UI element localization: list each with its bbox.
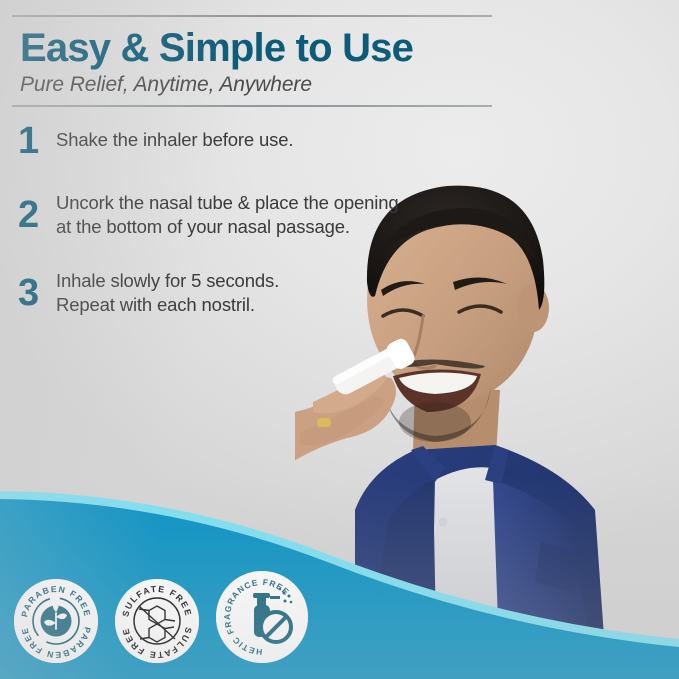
step-text: Uncork the nasal tube & place the openin…: [56, 186, 482, 238]
step-text-line: Inhale slowly for 5 seconds.: [56, 269, 482, 293]
divider-bottom: [12, 105, 492, 107]
steps-list: 1 Shake the inhaler before use. 2 Uncork…: [12, 122, 482, 343]
step-text-line: at the bottom of your nasal passage.: [56, 215, 482, 239]
step-item: 2 Uncork the nasal tube & place the open…: [12, 186, 482, 238]
step-text-line: Uncork the nasal tube & place the openin…: [56, 191, 482, 215]
divider-top: [12, 15, 492, 17]
product-instruction-graphic: Easy & Simple to Use Pure Relief, Anytim…: [0, 0, 679, 679]
step-item: 1 Shake the inhaler before use.: [12, 122, 482, 160]
header-block: Easy & Simple to Use Pure Relief, Anytim…: [12, 0, 492, 107]
badge-sulfate-free: SULFATE FREE SULFATE FREE: [115, 579, 199, 663]
step-number: 2: [12, 186, 56, 234]
badge-synthetic-fragrance-free: SYNTHETIC FRAGRANCE FREE: [216, 571, 308, 663]
step-number: 3: [12, 264, 56, 312]
badge-paraben-free: PARABEN FREE PARABEN FREE: [14, 579, 98, 663]
page-title: Easy & Simple to Use: [20, 27, 492, 69]
page-subtitle: Pure Relief, Anytime, Anywhere: [20, 73, 492, 97]
step-number: 1: [12, 122, 56, 160]
certification-badges: PARABEN FREE PARABEN FREE: [14, 571, 308, 663]
step-text: Shake the inhaler before use.: [56, 122, 482, 152]
step-text-line: Repeat with each nostril.: [56, 293, 482, 317]
step-text: Inhale slowly for 5 seconds. Repeat with…: [56, 264, 482, 316]
step-text-line: Shake the inhaler before use.: [56, 128, 482, 152]
step-item: 3 Inhale slowly for 5 seconds. Repeat wi…: [12, 264, 482, 316]
